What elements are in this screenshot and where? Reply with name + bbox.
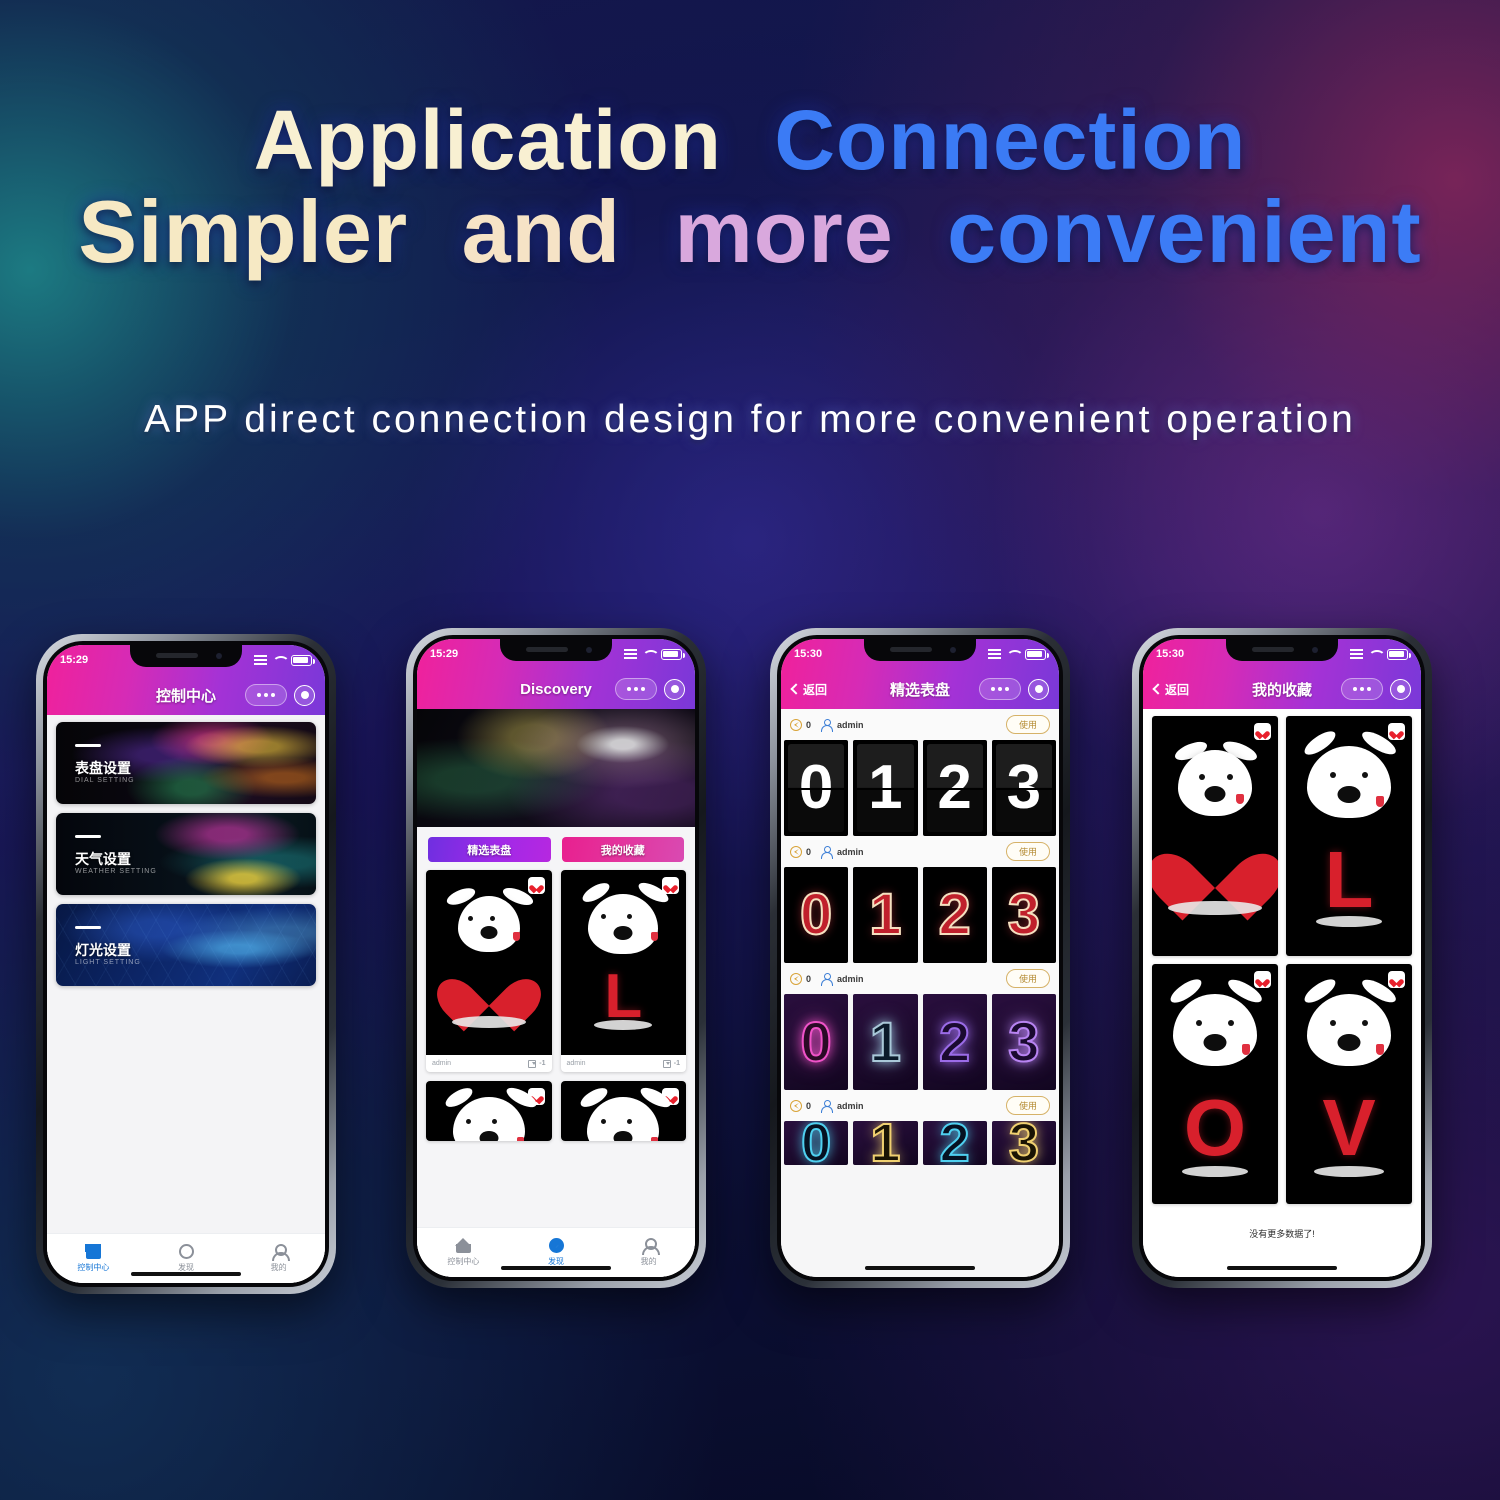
dial-preview-row-marquee[interactable]: 0 1 2 3	[781, 867, 1059, 963]
mini-program-capsule[interactable]	[979, 678, 1049, 700]
dial-grid: admin -1	[417, 870, 695, 1141]
dial-card[interactable]: L admin -1	[561, 870, 687, 1072]
user-icon	[820, 973, 832, 985]
battery-icon	[291, 655, 312, 666]
back-button[interactable]: 返回	[792, 681, 827, 698]
dial-card[interactable]	[561, 1081, 687, 1141]
home-indicator	[1227, 1266, 1337, 1270]
headline-block: Application Connection Simpler and more …	[0, 96, 1500, 278]
tab-control-center[interactable]: 控制中心	[417, 1228, 510, 1277]
back-label: 返回	[803, 681, 827, 698]
chevron-left-icon	[1152, 683, 1163, 694]
phone-bezel: 15:29 Discovery 精选表盘 我的收藏	[413, 635, 699, 1281]
headline-line-2: Simpler and more convenient	[0, 185, 1500, 278]
discover-icon	[549, 1238, 564, 1253]
phone-screen: 15:30 返回 我的收藏	[1143, 639, 1421, 1277]
card-weather-setting[interactable]: 天气设置 WEATHER SETTING	[56, 813, 316, 895]
dog-artwork-O: O	[1152, 964, 1278, 1204]
subtitle: APP direct connection design for more co…	[0, 398, 1500, 442]
card-dial-setting[interactable]: 表盘设置 DIAL SETTING	[56, 722, 316, 804]
card-title: 灯光设置	[75, 940, 131, 960]
favorite-card[interactable]: L	[1286, 716, 1412, 956]
dial-card[interactable]: admin -1	[426, 870, 552, 1072]
digit-value: 2	[939, 1014, 970, 1070]
dial-digit: 2	[923, 994, 987, 1090]
profile-icon	[271, 1244, 286, 1259]
more-dots-icon[interactable]	[1341, 678, 1383, 700]
home-indicator	[501, 1266, 611, 1270]
use-button[interactable]: 使用	[1006, 969, 1050, 988]
favorite-card[interactable]	[1152, 716, 1278, 956]
signal-icon	[988, 649, 1001, 659]
dog-artwork-O	[426, 1081, 552, 1141]
dial-preview-row-neon[interactable]: 0 1 2 3	[781, 994, 1059, 1090]
dial-digit: 1	[853, 994, 917, 1090]
dial-preview-row-flip[interactable]: 0 1 2 3	[781, 740, 1059, 836]
download-icon	[663, 1060, 671, 1068]
headline-line-1: Application Connection	[0, 96, 1500, 185]
use-button[interactable]: 使用	[1006, 842, 1050, 861]
dial-author: admin	[837, 974, 864, 984]
card-light-setting[interactable]: 灯光设置 LIGHT SETTING	[56, 904, 316, 986]
dial-letter: V	[1322, 1088, 1375, 1168]
accent-dash	[75, 926, 101, 929]
favorites-grid: L O	[1152, 716, 1412, 1204]
status-time: 15:29	[60, 654, 88, 666]
dial-author: admin	[567, 1060, 586, 1067]
digit-value: 0	[800, 886, 832, 944]
tab-mine[interactable]: 我的	[232, 1234, 325, 1283]
accent-dash	[75, 744, 101, 747]
target-circle-icon[interactable]	[1390, 679, 1411, 700]
hero-banner	[417, 709, 695, 827]
segment-control: 精选表盘 我的收藏	[417, 827, 695, 870]
dial-digit: 2	[923, 740, 987, 836]
target-circle-icon[interactable]	[294, 685, 315, 706]
favorites-body: L O	[1143, 709, 1421, 1277]
dial-preview: L	[561, 870, 687, 1055]
card-title: 表盘设置	[75, 758, 131, 778]
dog-artwork-V: V	[1286, 964, 1412, 1204]
notch	[1226, 639, 1338, 661]
digit-value: 2	[938, 886, 970, 944]
coin-icon	[790, 846, 802, 858]
dial-meta-row: 0 admin 使用	[781, 836, 1059, 867]
user-icon	[820, 719, 832, 731]
phone-bezel: 15:30 返回 我的收藏	[1139, 635, 1425, 1281]
nav-bar: 控制中心	[47, 675, 325, 715]
dial-digit: 2	[923, 1121, 987, 1165]
coin-count: 0	[806, 1101, 811, 1111]
tab-mine[interactable]: 我的	[602, 1228, 695, 1277]
dial-digit: 0	[784, 867, 848, 963]
dial-meta-row: 0 admin 使用	[781, 1090, 1059, 1121]
dial-digit: 3	[992, 1121, 1056, 1165]
home-indicator	[131, 1272, 241, 1276]
notch	[864, 639, 976, 661]
dog-artwork-heart	[426, 870, 552, 1055]
tab-label: 控制中心	[77, 1262, 109, 1273]
phone-1-control-center: 15:29 控制中心 表盘设置 DIAL SETTING	[36, 634, 336, 1294]
battery-icon	[661, 649, 682, 660]
dial-preview	[426, 1081, 552, 1141]
dial-preview	[561, 1081, 687, 1141]
card-subtitle: DIAL SETTING	[75, 777, 135, 784]
headline-word: Connection	[760, 96, 1260, 185]
dial-author: admin	[837, 1101, 864, 1111]
segment-my-favorites[interactable]: 我的收藏	[562, 837, 685, 862]
dial-digit: 0	[784, 994, 848, 1090]
phone-bezel: 15:29 控制中心 表盘设置 DIAL SETTING	[43, 641, 329, 1287]
digit-value: 3	[1008, 1014, 1039, 1070]
dial-author: admin	[837, 847, 864, 857]
featured-dials-body: 0 admin 使用 0 1 2 3 0 admin 使用 0 1	[781, 709, 1059, 1277]
dial-preview-row-glow[interactable]: 0 1 2 3	[781, 1121, 1059, 1165]
wifi-icon	[1006, 649, 1020, 660]
dial-digit: 1	[853, 740, 917, 836]
phone-screen: 15:29 控制中心 表盘设置 DIAL SETTING	[47, 645, 325, 1283]
wifi-icon	[1368, 649, 1382, 660]
digit-value: 1	[869, 886, 901, 944]
favorite-card[interactable]: V	[1286, 964, 1412, 1204]
user-icon	[820, 846, 832, 858]
status-time: 15:30	[1156, 648, 1184, 660]
dial-card-footer: admin -1	[426, 1055, 552, 1072]
headline-word: Application	[240, 96, 736, 185]
nav-bar: 返回 精选表盘	[781, 669, 1059, 709]
target-circle-icon[interactable]	[1028, 679, 1049, 700]
digit-value: 0	[801, 1014, 832, 1070]
dial-downloads: -1	[674, 1060, 680, 1067]
card-subtitle: WEATHER SETTING	[75, 868, 157, 875]
signal-icon	[1350, 649, 1363, 659]
nav-bar: Discovery	[417, 669, 695, 709]
more-dots-icon[interactable]	[615, 678, 657, 700]
digit-value: 2	[940, 1121, 970, 1165]
dial-digit: 0	[784, 740, 848, 836]
dial-preview	[426, 870, 552, 1055]
phone-3-featured-dials: 15:30 返回 精选表盘	[770, 628, 1070, 1288]
card-title: 天气设置	[75, 849, 131, 869]
phone-screen: 15:29 Discovery 精选表盘 我的收藏	[417, 639, 695, 1277]
discovery-body: 精选表盘 我的收藏	[417, 709, 695, 1277]
no-more-data-text: 没有更多数据了!	[1152, 1204, 1412, 1240]
dog-artwork-V	[561, 1081, 687, 1141]
dial-digit: 3	[992, 867, 1056, 963]
dial-card[interactable]	[426, 1081, 552, 1141]
dial-card-footer: admin -1	[561, 1055, 687, 1072]
dog-artwork-L: L	[561, 870, 687, 1055]
home-icon	[85, 1244, 102, 1259]
dial-letter: L	[1325, 840, 1374, 920]
dial-digit: 3	[992, 994, 1056, 1090]
battery-icon	[1387, 649, 1408, 660]
headline-word: more	[660, 185, 907, 278]
phone-screen: 15:30 返回 精选表盘	[781, 639, 1059, 1277]
dial-author: admin	[432, 1060, 451, 1067]
phone-bezel: 15:30 返回 精选表盘	[777, 635, 1063, 1281]
segment-featured-dials[interactable]: 精选表盘	[428, 837, 551, 862]
target-circle-icon[interactable]	[664, 679, 685, 700]
digit-value: 3	[1008, 886, 1040, 944]
notch	[500, 639, 612, 661]
wifi-icon	[272, 655, 286, 666]
favorite-card[interactable]: O	[1152, 964, 1278, 1204]
dial-digit: 1	[853, 867, 917, 963]
control-center-body: 表盘设置 DIAL SETTING 天气设置 WEATHER SETTING 灯…	[47, 715, 325, 1283]
dog-artwork-L: L	[1286, 716, 1412, 956]
accent-dash	[75, 835, 101, 838]
tab-label: 控制中心	[447, 1256, 479, 1267]
dial-author: admin	[837, 720, 864, 730]
tab-label: 我的	[271, 1262, 287, 1273]
mini-program-capsule[interactable]	[615, 678, 685, 700]
back-label: 返回	[1165, 681, 1189, 698]
use-button[interactable]: 使用	[1006, 715, 1050, 734]
dial-digit: 2	[923, 867, 987, 963]
headline-word: convenient	[933, 185, 1436, 278]
dial-meta-row: 0 admin 使用	[781, 963, 1059, 994]
tab-label: 我的	[641, 1256, 657, 1267]
status-time: 15:29	[430, 648, 458, 660]
dial-digit: 3	[992, 740, 1056, 836]
coin-count: 0	[806, 847, 811, 857]
home-indicator	[865, 1266, 975, 1270]
coin-icon	[790, 973, 802, 985]
profile-icon	[641, 1238, 656, 1253]
more-dots-icon[interactable]	[979, 678, 1021, 700]
tab-control-center[interactable]: 控制中心	[47, 1234, 140, 1283]
signal-icon	[624, 649, 637, 659]
coin-icon	[790, 719, 802, 731]
discover-icon	[179, 1244, 194, 1259]
phone-4-my-favorites: 15:30 返回 我的收藏	[1132, 628, 1432, 1288]
home-icon	[455, 1238, 472, 1253]
signal-icon	[254, 655, 267, 665]
nav-bar: 返回 我的收藏	[1143, 669, 1421, 709]
headline-word: and	[448, 185, 635, 278]
coin-count: 0	[806, 720, 811, 730]
notch	[130, 645, 242, 667]
dial-meta-row: 0 admin 使用	[781, 709, 1059, 740]
headline-word: Simpler	[64, 185, 422, 278]
dial-letter: O	[1184, 1088, 1246, 1168]
mini-program-capsule[interactable]	[1341, 678, 1411, 700]
phone-2-discovery: 15:29 Discovery 精选表盘 我的收藏	[406, 628, 706, 1288]
battery-icon	[1025, 649, 1046, 660]
digit-value: 1	[870, 1121, 900, 1165]
dial-downloads: -1	[539, 1060, 545, 1067]
back-button[interactable]: 返回	[1154, 681, 1189, 698]
status-time: 15:30	[794, 648, 822, 660]
download-icon	[528, 1060, 536, 1068]
dial-digit: 0	[784, 1121, 848, 1165]
use-button[interactable]: 使用	[1006, 1096, 1050, 1115]
more-dots-icon[interactable]	[245, 684, 287, 706]
card-subtitle: LIGHT SETTING	[75, 959, 141, 966]
digit-value: 3	[1009, 1121, 1039, 1165]
coin-icon	[790, 1100, 802, 1112]
user-icon	[820, 1100, 832, 1112]
dial-letter: L	[604, 966, 642, 1028]
dog-artwork-heart	[1152, 716, 1278, 956]
coin-count: 0	[806, 974, 811, 984]
wifi-icon	[642, 649, 656, 660]
digit-value: 1	[870, 1014, 901, 1070]
mini-program-capsule[interactable]	[245, 684, 315, 706]
digit-value: 0	[801, 1121, 831, 1165]
chevron-left-icon	[790, 683, 801, 694]
dial-digit: 1	[853, 1121, 917, 1165]
